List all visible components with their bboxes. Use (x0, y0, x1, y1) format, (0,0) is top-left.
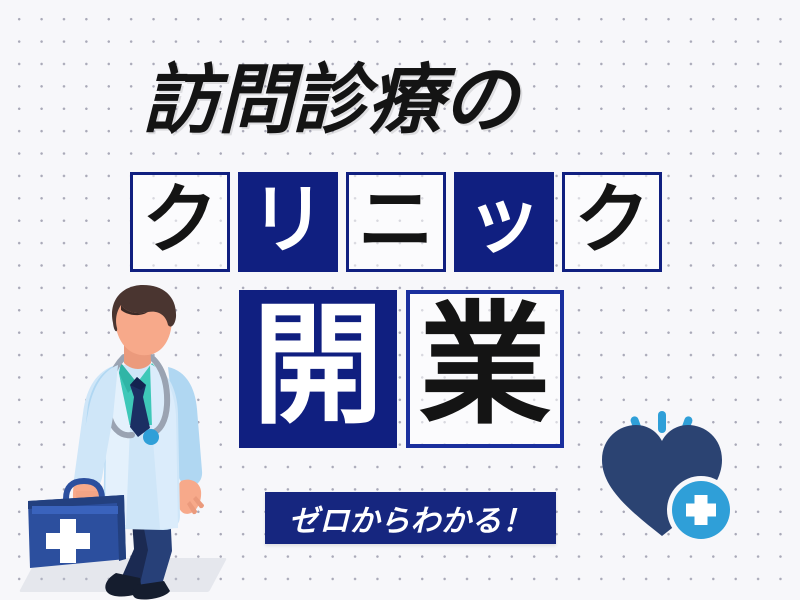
kana-box-1: ク (130, 172, 230, 272)
tagline-text: ゼロからわかる！ (289, 496, 533, 540)
headline-kana-row: ク リ ニ ッ ク (130, 172, 662, 272)
kana-glyph: ッ (466, 182, 542, 258)
kanji-box-1: 開 (239, 290, 397, 448)
kanji-glyph: 開 (252, 300, 384, 432)
stethoscope-chestpiece (143, 429, 159, 445)
headline-kanji-row: 開 業 (239, 290, 564, 448)
heart-plus-icon (600, 408, 750, 558)
kana-glyph: ク (142, 182, 218, 258)
kana-box-2: リ (238, 172, 338, 272)
kana-box-4: ッ (454, 172, 554, 272)
kana-glyph: ニ (358, 182, 434, 258)
poster-canvas: 訪問診療の ク リ ニ ッ ク 開 業 ゼロからわかる！ (0, 0, 800, 600)
doctor-hand-back (177, 480, 201, 514)
kana-box-5: ク (562, 172, 662, 272)
kana-glyph: リ (250, 182, 326, 258)
kanji-glyph: 業 (419, 300, 551, 432)
doctor-illustration (20, 285, 250, 600)
kana-glyph: ク (574, 182, 650, 258)
kana-box-3: ニ (346, 172, 446, 272)
page-title: 訪問診療の (0, 52, 800, 148)
kanji-box-2: 業 (406, 290, 564, 448)
tagline-banner: ゼロからわかる！ (265, 492, 556, 544)
